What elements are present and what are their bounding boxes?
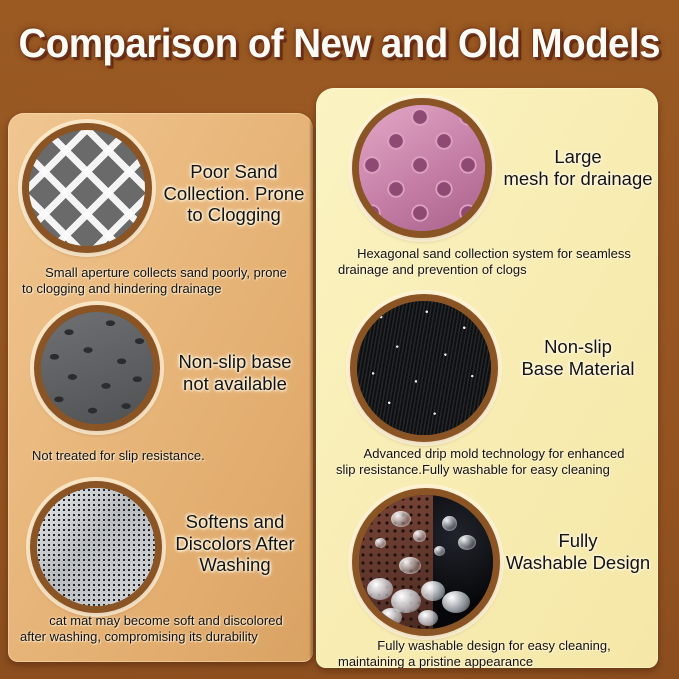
old-model-panel: Poor Sand Collection. Prone to Clogging … bbox=[8, 113, 313, 662]
heading-line: not available bbox=[160, 373, 310, 395]
old-item-3-caption: cat mat may become soft and discolored a… bbox=[20, 613, 312, 646]
new-item-2-caption: Advanced drip mold technology for enhanc… bbox=[336, 446, 652, 479]
caption-line: Hexagonal sand collection system for sea… bbox=[338, 246, 650, 262]
heading-line: Washing bbox=[160, 554, 310, 576]
caption-line: Advanced drip mold technology for enhanc… bbox=[336, 446, 652, 462]
pink-hexagonal-mesh-photo bbox=[352, 98, 492, 238]
new-item-1-heading: Large mesh for drainage bbox=[500, 146, 656, 189]
heading-line: Fully bbox=[502, 530, 654, 552]
heading-line: to Clogging bbox=[158, 204, 310, 226]
caption-line: after washing, compromising its durabili… bbox=[20, 629, 312, 645]
caption-line: slip resistance.Fully washable for easy … bbox=[336, 462, 652, 478]
square-mesh-grid-photo bbox=[22, 123, 152, 253]
old-item-3-heading: Softens and Discolors After Washing bbox=[160, 511, 310, 576]
heading-line: Collection. Prone bbox=[158, 183, 310, 205]
caption-line: drainage and prevention of clogs bbox=[338, 262, 650, 278]
fine-dotted-fabric-photo bbox=[30, 481, 162, 613]
black-dotted-nonslip-fabric-photo bbox=[350, 294, 498, 442]
old-item-1-heading: Poor Sand Collection. Prone to Clogging bbox=[158, 161, 310, 226]
heading-line: Base Material bbox=[502, 358, 654, 380]
old-item-1-caption: Small aperture collects sand poorly, pro… bbox=[22, 265, 310, 298]
new-model-panel: Large mesh for drainage Hexagonal sand c… bbox=[316, 88, 658, 668]
heading-line: Large bbox=[500, 146, 656, 168]
caption-line: Small aperture collects sand poorly, pro… bbox=[22, 265, 310, 281]
old-item-2-heading: Non-slip base not available bbox=[160, 351, 310, 394]
caption-line: Fully washable design for easy cleaning, bbox=[338, 638, 650, 654]
heading-line: Poor Sand bbox=[158, 161, 310, 183]
new-item-3-heading: Fully Washable Design bbox=[502, 530, 654, 573]
heading-line: Softens and bbox=[160, 511, 310, 533]
heading-line: mesh for drainage bbox=[500, 168, 656, 190]
caption-line: Not treated for slip resistance. bbox=[32, 448, 312, 464]
heading-line: Washable Design bbox=[502, 552, 654, 574]
washing-bubbles-photo bbox=[352, 488, 500, 636]
page-title: Comparison of New and Old Models bbox=[19, 20, 660, 67]
new-item-1-caption: Hexagonal sand collection system for sea… bbox=[338, 246, 650, 279]
caption-line: maintaining a pristine appearance bbox=[338, 654, 650, 668]
title-bar: Comparison of New and Old Models bbox=[0, 0, 679, 86]
caption-line: to clogging and hindering drainage bbox=[22, 281, 310, 297]
new-item-2-heading: Non-slip Base Material bbox=[502, 336, 654, 379]
caption-line: cat mat may become soft and discolored bbox=[20, 613, 312, 629]
old-item-2-caption: Not treated for slip resistance. bbox=[32, 448, 312, 464]
heading-line: Non-slip bbox=[502, 336, 654, 358]
heading-line: Non-slip base bbox=[160, 351, 310, 373]
heading-line: Discolors After bbox=[160, 533, 310, 555]
new-item-3-caption: Fully washable design for easy cleaning,… bbox=[338, 638, 650, 668]
grey-bumped-base-photo bbox=[34, 305, 160, 431]
